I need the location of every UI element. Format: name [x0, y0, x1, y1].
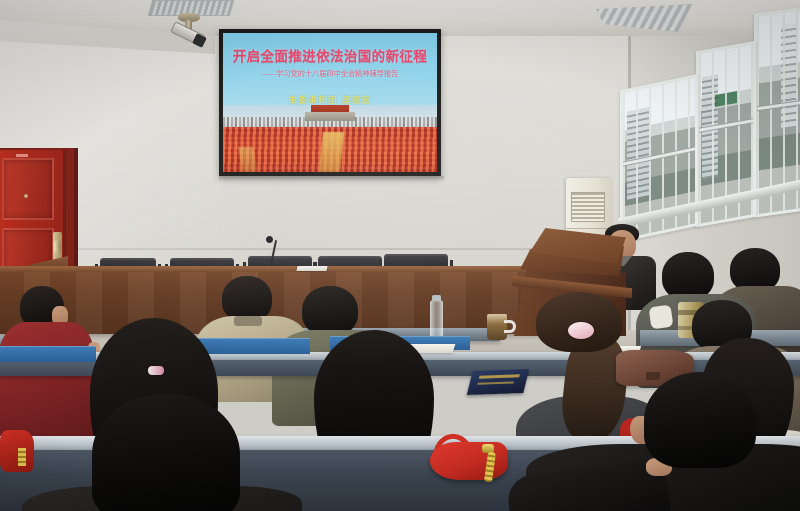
paper-notes: [296, 266, 327, 271]
slide-presenter: 市委讲师团 吴德宏: [223, 94, 437, 106]
projection-screen: 开启全面推进依法治国的新征程 ——学习党的十八届四中全会精神辅导报告 市委讲师团…: [219, 29, 441, 176]
red-handbag[interactable]: [424, 428, 516, 484]
projection-screen-shadow: [219, 176, 444, 181]
book-title-line: [479, 374, 520, 378]
ac-grille-icon: [571, 192, 605, 222]
person-paper: [649, 305, 674, 330]
door-sticker: [16, 154, 28, 157]
hair-scrunchie: [568, 322, 594, 339]
desk-blue-panel: [0, 346, 96, 362]
surveillance-camera-icon: [166, 13, 210, 57]
person-head: [302, 286, 358, 336]
meeting-room-photo: 开启全面推进依法治国的新征程 ——学习党的十八届四中全会精神辅导报告 市委讲师团…: [0, 0, 800, 511]
gate-base: [305, 112, 355, 121]
audience-foreground-black-sweater: [560, 372, 800, 511]
person-collar: [234, 316, 262, 326]
projected-slide: 开启全面推进依法治国的新征程 ——学习党的十八届四中全会精神辅导报告 市委讲师团…: [223, 33, 437, 172]
bottle-cap: [432, 295, 441, 301]
window-wall: [612, 2, 800, 242]
table-microphone-icon: [266, 236, 273, 243]
person-head: [644, 372, 756, 468]
handbag-body: [430, 442, 508, 480]
slide-title: 开启全面推进依法治国的新征程: [223, 45, 437, 65]
tea-cup[interactable]: [487, 314, 507, 340]
audience-foreground-left-head: [62, 394, 262, 511]
hair-clip: [148, 366, 164, 375]
person-head: [92, 394, 240, 511]
small-red-purse[interactable]: [0, 430, 34, 472]
slide-photo-gate: [299, 105, 361, 121]
slide-photo-tiananmen: [223, 105, 437, 172]
cup-handle: [504, 320, 516, 333]
door-peephole-icon: [24, 194, 28, 198]
navy-book[interactable]: [467, 369, 529, 395]
person-head: [662, 252, 714, 300]
book-subtitle-line: [477, 381, 514, 384]
slide-subtitle: ——学习党的十八届四中全会精神辅导报告: [223, 69, 437, 79]
door-handle[interactable]: [54, 240, 61, 253]
door-panel-top: [2, 158, 54, 220]
